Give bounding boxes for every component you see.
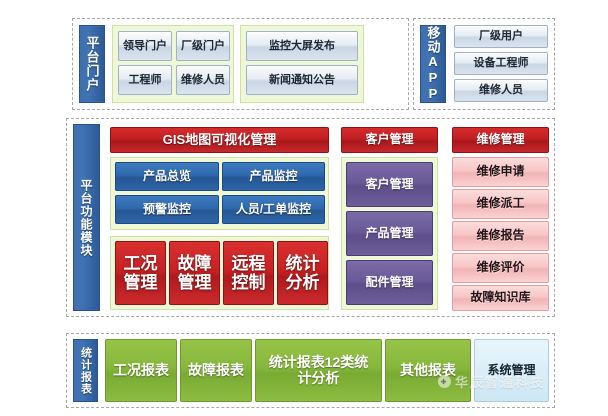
report-button-fault-report[interactable]: 故障报表 (180, 339, 252, 402)
customer-button-product-management[interactable]: 产品管理 (346, 211, 433, 256)
maintenance-button-repair-report[interactable]: 维修报告 (452, 221, 549, 251)
gis-button-product-monitor[interactable]: 产品监控 (222, 162, 325, 191)
portal-button-engineer[interactable]: 工程师 (118, 65, 172, 95)
core-button-line1: 工况 (124, 254, 158, 273)
core-button-line2: 分析 (286, 273, 320, 292)
gis-button-alarm-monitor[interactable]: 预警监控 (115, 195, 219, 224)
maintenance-header[interactable]: 维修管理 (452, 127, 549, 153)
core-button-statistical-analysis[interactable]: 统计 分析 (277, 241, 328, 305)
core-button-fault-management[interactable]: 故障 管理 (169, 241, 220, 305)
portal-rail-label: 平台门户 (79, 25, 105, 103)
portal-button-repair-staff[interactable]: 维修人员 (176, 65, 230, 95)
system-management-button[interactable]: 系统管理 (474, 339, 549, 402)
mobile-rail-label: 移动APP (420, 25, 446, 103)
maintenance-button-repair-request[interactable]: 维修申请 (452, 157, 549, 187)
portal-button-monitor-wall[interactable]: 监控大屏发布 (246, 31, 358, 61)
report-button-statistical-analysis-12[interactable]: 统计报表12类统计分析 (255, 339, 382, 402)
gis-button-product-overview[interactable]: 产品总览 (115, 162, 219, 191)
core-button-remote-control[interactable]: 远程 控制 (223, 241, 274, 305)
mobile-button-factory-user[interactable]: 厂级用户 (454, 25, 548, 48)
architecture-diagram: 平台门户 领导门户 厂级门户 工程师 维修人员 监控大屏发布 新闻通知公告 移动… (0, 0, 608, 416)
mobile-button-device-engineer[interactable]: 设备工程师 (454, 52, 548, 75)
function-rail-label: 平台功能模块 (73, 124, 100, 311)
customer-button-parts-management[interactable]: 配件管理 (346, 260, 433, 305)
core-button-line2: 管理 (124, 273, 158, 292)
portal-button-factory[interactable]: 厂级门户 (176, 31, 230, 61)
portal-button-news-notice[interactable]: 新闻通知公告 (246, 65, 358, 95)
gis-button-staff-workorder-monitor[interactable]: 人员/工单监控 (222, 195, 325, 224)
core-button-line1: 统计 (286, 254, 320, 273)
maintenance-button-repair-evaluation[interactable]: 维修评价 (452, 253, 549, 283)
customer-button-customer-management[interactable]: 客户管理 (346, 162, 433, 207)
core-button-line1: 故障 (178, 254, 212, 273)
maintenance-button-repair-dispatch[interactable]: 维修派工 (452, 189, 549, 219)
report-rail-label: 统计报表 (73, 339, 98, 402)
core-button-condition-management[interactable]: 工况 管理 (115, 241, 166, 305)
portal-button-leader[interactable]: 领导门户 (118, 31, 172, 61)
core-button-line2: 管理 (178, 273, 212, 292)
maintenance-button-fault-knowledge-base[interactable]: 故障知识库 (452, 285, 549, 311)
mobile-button-repair-staff[interactable]: 维修人员 (454, 79, 548, 102)
customer-header[interactable]: 客户管理 (341, 127, 438, 153)
core-button-line1: 远程 (232, 254, 266, 273)
report-button-other-reports[interactable]: 其他报表 (385, 339, 471, 402)
report-button-condition-report[interactable]: 工况报表 (105, 339, 177, 402)
core-button-line2: 控制 (232, 273, 266, 292)
gis-header[interactable]: GIS地图可视化管理 (110, 127, 329, 153)
